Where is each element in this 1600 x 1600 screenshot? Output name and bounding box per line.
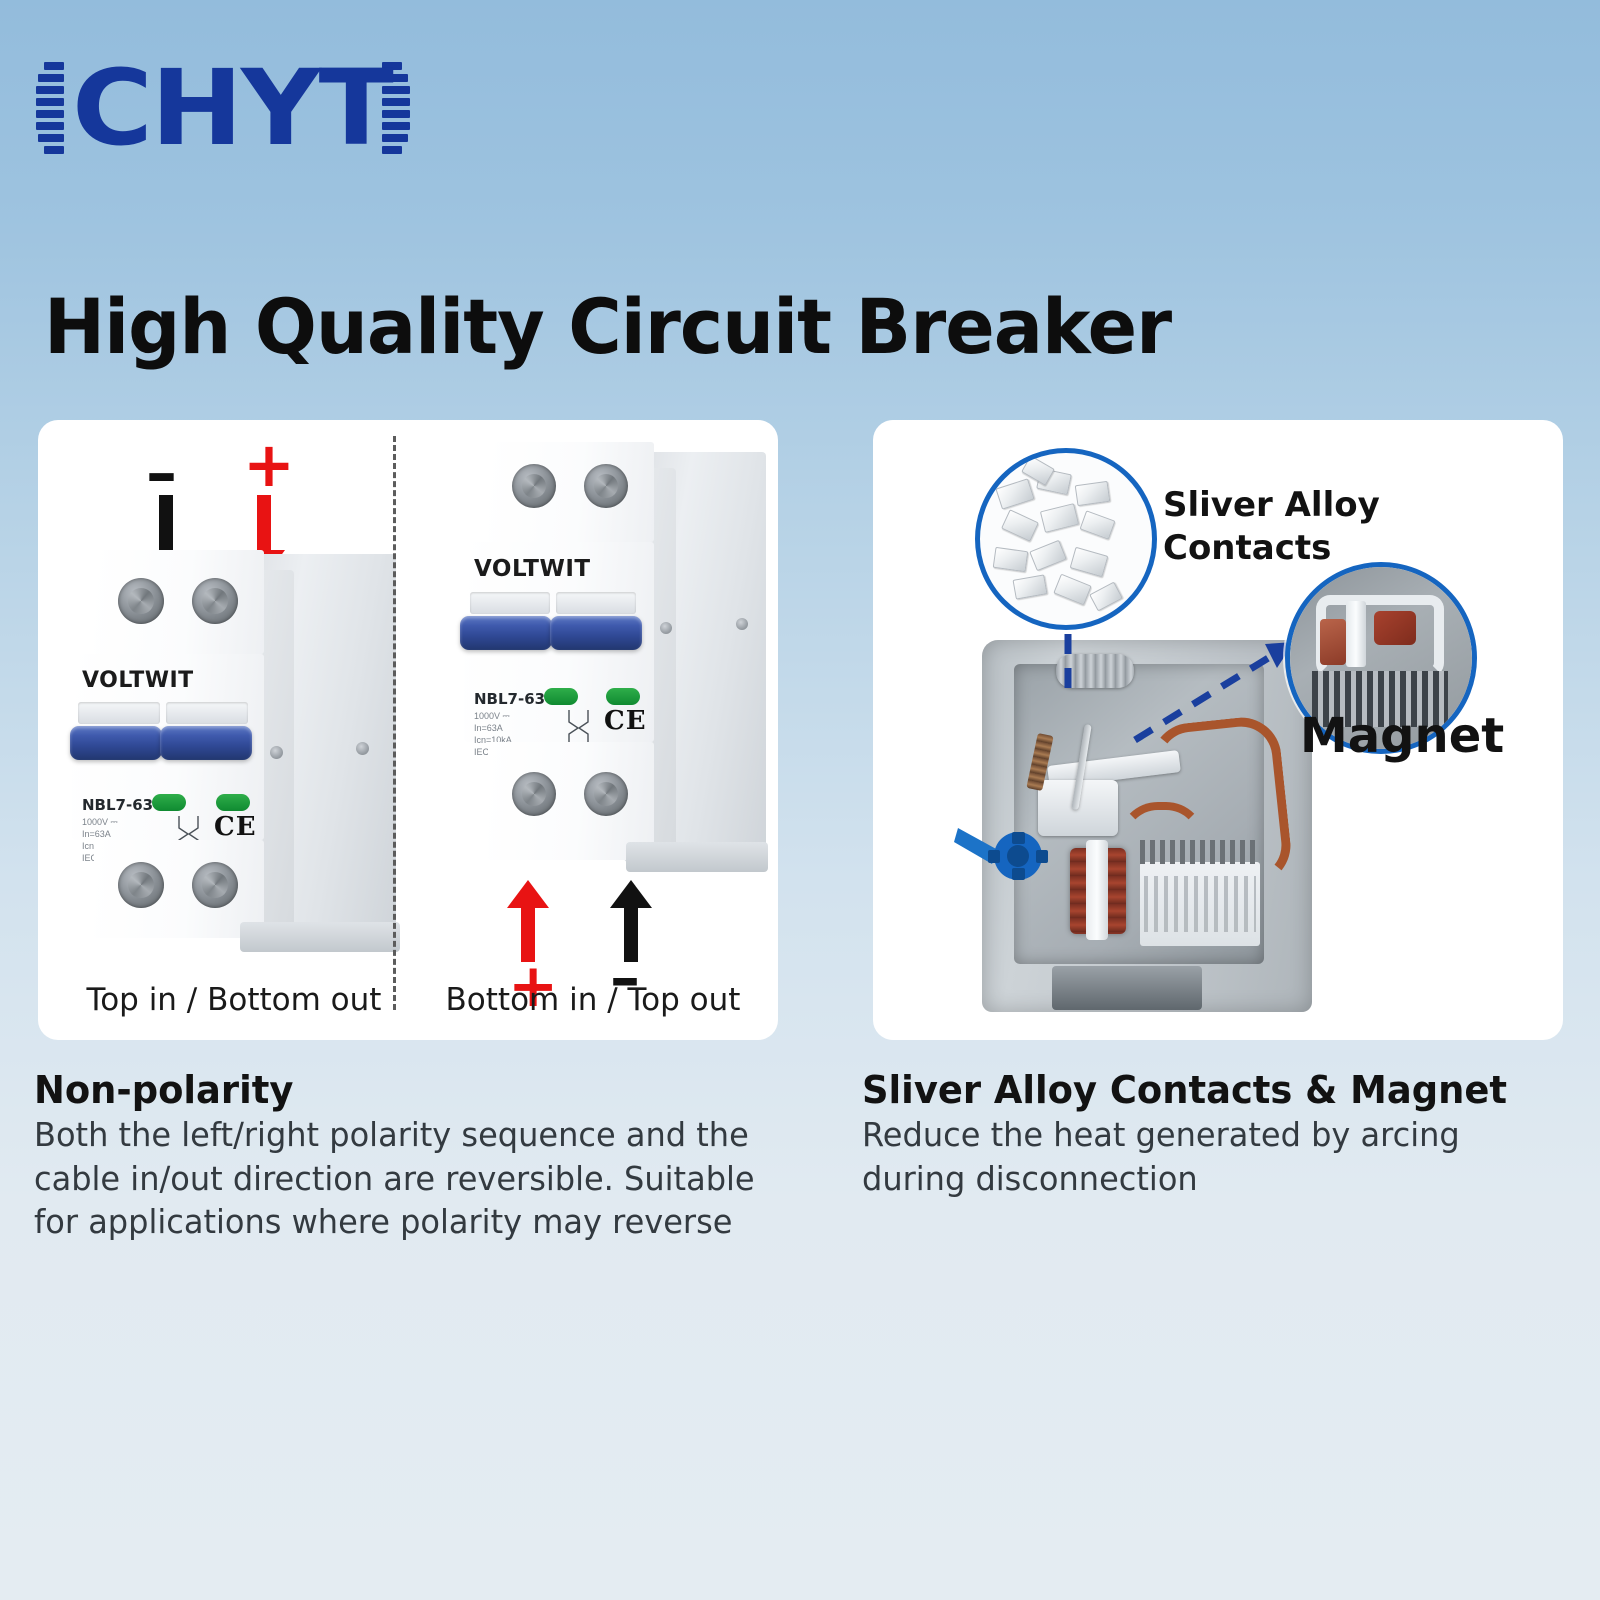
figure-b-caption: Bottom in / Top out <box>418 982 768 1018</box>
right-block-body: Reduce the heat generated by arcing duri… <box>862 1113 1522 1200</box>
right-block-title: Sliver Alloy Contacts & Magnet <box>862 1068 1507 1112</box>
logo-wordmark: CHYT <box>72 56 392 160</box>
figure-a-brand-text: VOLTWIT <box>82 668 194 693</box>
figure-b-brand-text: VOLTWIT <box>474 556 591 582</box>
figure-a-ce-mark: CE <box>214 812 257 842</box>
left-block-body: Both the left/right polarity sequence an… <box>34 1113 781 1244</box>
sliver-alloy-contacts-label: Sliver Alloy Contacts <box>1163 484 1380 569</box>
left-block-title: Non-polarity <box>34 1068 293 1112</box>
sliver-alloy-contacts-inset <box>975 448 1157 630</box>
figure-a-toggle-lever-left <box>70 726 162 760</box>
figures-divider <box>393 436 396 1010</box>
page-title: High Quality Circuit Breaker <box>44 282 1171 371</box>
left-feature-card: – + VOLTWIT NBL7-63 1000 <box>38 420 778 1040</box>
figure-b-toggle-lever-right <box>550 616 642 650</box>
brand-logo: CHYT <box>36 52 410 164</box>
figure-a-model-text: NBL7-63 <box>82 796 153 814</box>
breaker-figure-a: VOLTWIT NBL7-63 1000V ⎓ In=63A Icn=10kA … <box>56 550 406 950</box>
figure-b-red-up-arrow-icon <box>505 880 551 962</box>
figure-a-caption: Top in / Bottom out <box>54 982 414 1018</box>
figure-b-toggle-lever-left <box>460 616 552 650</box>
figure-b-ce-mark: CE <box>604 706 647 736</box>
figure-a-toggle-lever-right <box>160 726 252 760</box>
figure-a-positive-sign: + <box>243 434 295 496</box>
magnet-label: Magnet <box>1300 706 1504 766</box>
breaker-figure-b: VOLTWIT NBL7-63 1000V ⎓ In=63A Icn=10kA … <box>448 442 768 882</box>
logo-bars-left-icon <box>36 62 64 154</box>
figure-b-model-text: NBL7-63 <box>474 690 545 708</box>
